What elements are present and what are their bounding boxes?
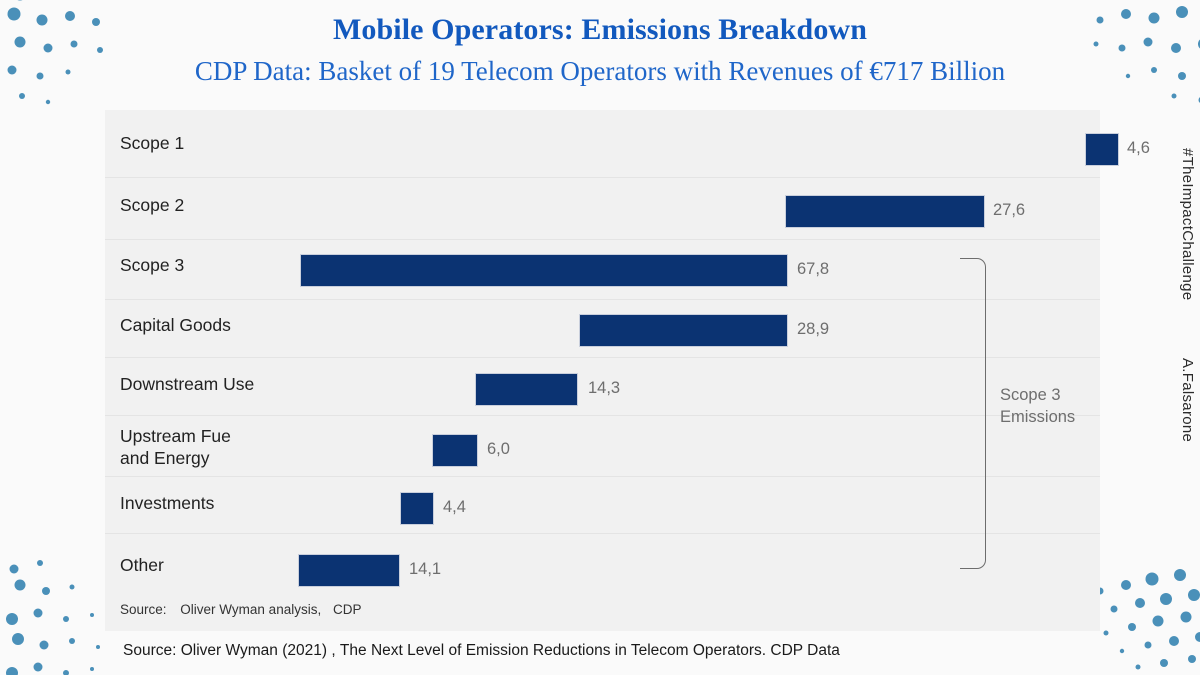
bar: [400, 492, 434, 525]
row-category-label: Upstream Fue and Energy: [120, 425, 231, 470]
chart-row: Downstream Use14,3: [105, 358, 1100, 416]
side-text-author: A.Falsarone: [1179, 358, 1196, 442]
row-category-label: Investments: [120, 492, 214, 514]
row-category-label: Capital Goods: [120, 314, 231, 336]
scope3-bracket-label: Scope 3 Emissions: [1000, 385, 1075, 429]
bar: [298, 554, 400, 587]
row-category-label: Scope 3: [120, 254, 184, 276]
decorative-dots-bottom-left: [0, 557, 120, 675]
chart-rows: Scope 14,6Scope 227,6Scope 367,8Capital …: [105, 110, 1100, 575]
bar-value-label: 14,3: [588, 379, 620, 398]
bar-value-label: 67,8: [797, 260, 829, 279]
chart-row: Capital Goods28,9: [105, 300, 1100, 358]
bar: [475, 373, 578, 406]
panel-source-label: Source:: [120, 602, 167, 617]
chart-panel: Scope 14,6Scope 227,6Scope 367,8Capital …: [105, 110, 1100, 631]
page-title: Mobile Operators: Emissions Breakdown: [0, 13, 1200, 47]
bar: [300, 254, 788, 287]
bar: [1085, 133, 1119, 166]
bar-value-label: 14,1: [409, 560, 441, 579]
chart-row: Scope 227,6: [105, 178, 1100, 240]
side-text-hashtag: #TheImpactChallenge: [1179, 148, 1196, 300]
panel-source-primary: Oliver Wyman analysis,: [180, 602, 321, 617]
row-category-label: Scope 1: [120, 132, 184, 154]
bar: [432, 434, 478, 467]
scope3-bracket: [960, 258, 986, 569]
panel-source-secondary: CDP: [333, 602, 362, 617]
bar-value-label: 27,6: [993, 201, 1025, 220]
title-block: Mobile Operators: Emissions Breakdown CD…: [0, 0, 1200, 87]
row-category-label: Scope 2: [120, 194, 184, 216]
chart-row: Scope 367,8: [105, 240, 1100, 300]
footnote-source: Source: Oliver Wyman (2021) , The Next L…: [123, 642, 840, 660]
chart-row: Upstream Fue and Energy6,0: [105, 416, 1100, 477]
chart-row: Other14,1: [105, 534, 1100, 592]
bar: [785, 195, 985, 228]
chart-row: Investments4,4: [105, 477, 1100, 534]
bar-value-label: 6,0: [487, 440, 510, 459]
bar-value-label: 28,9: [797, 320, 829, 339]
bar: [579, 314, 788, 347]
row-category-label: Other: [120, 554, 164, 576]
row-category-label: Downstream Use: [120, 373, 254, 395]
bar-value-label: 4,6: [1127, 139, 1150, 158]
bar-value-label: 4,4: [443, 498, 466, 517]
panel-source: Source: Oliver Wyman analysis, CDP: [120, 602, 362, 617]
page-subtitle: CDP Data: Basket of 19 Telecom Operators…: [0, 56, 1200, 87]
chart-row: Scope 14,6: [105, 116, 1100, 178]
